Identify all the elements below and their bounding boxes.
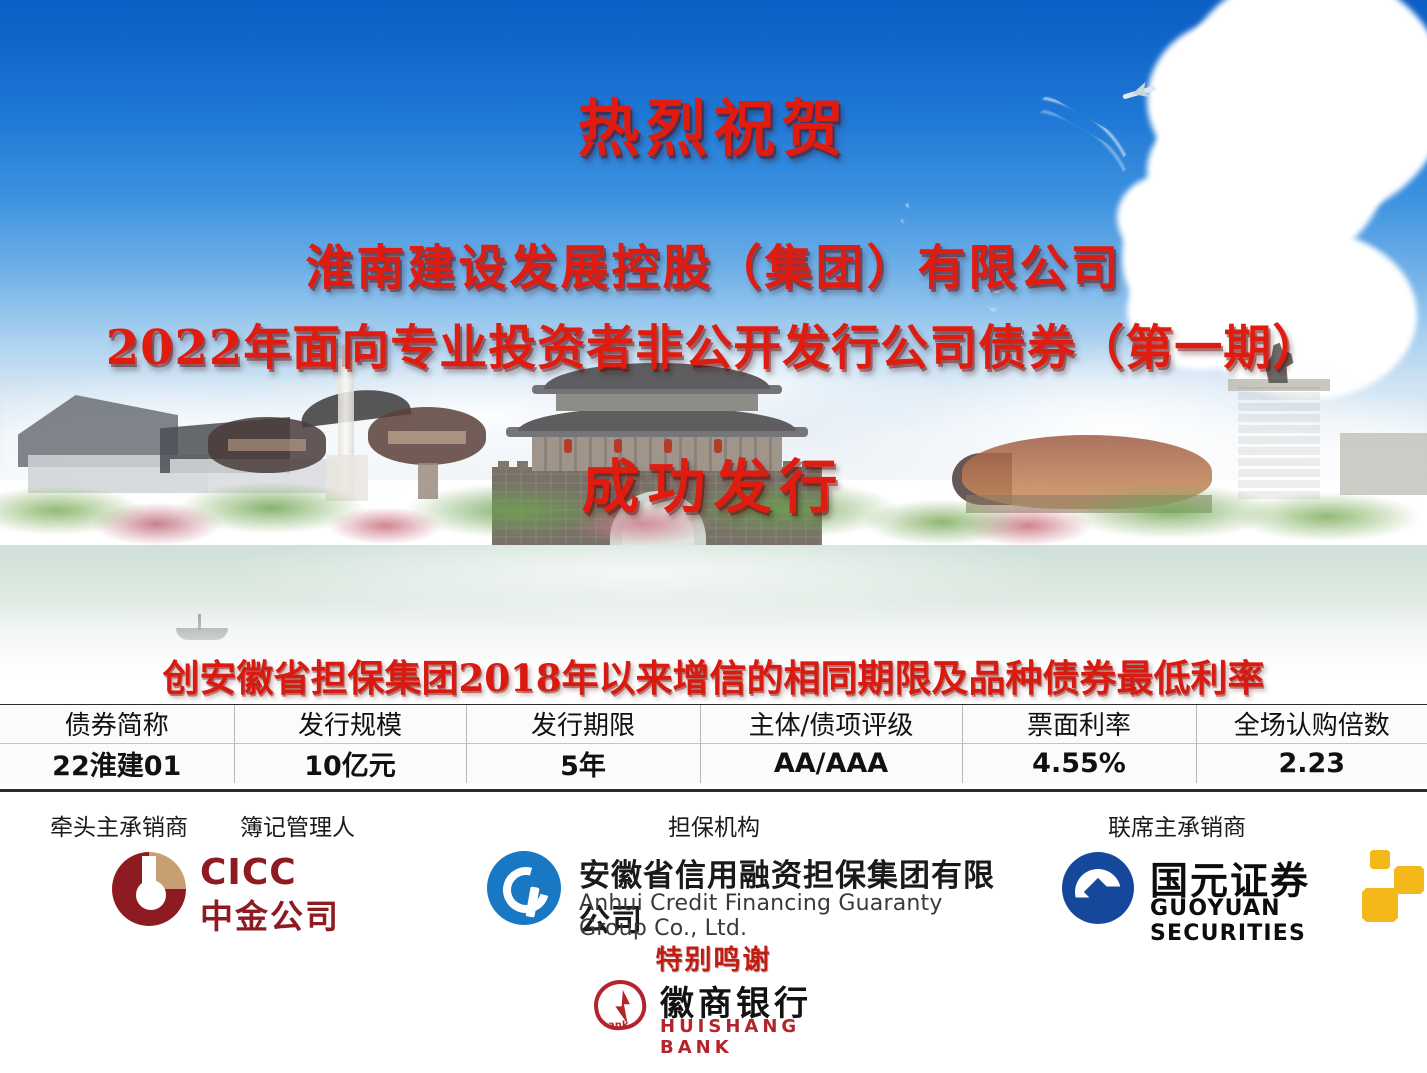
guoyuan-gold-square-large <box>1362 888 1398 922</box>
huishang-logo-en: HUISHANG BANK <box>660 1016 842 1058</box>
special-thanks-label: 特别鸣谢 <box>0 938 1427 977</box>
guoyuan-securities-logo: 国元证券 GUOYUAN SECURITIES <box>1062 848 1427 930</box>
value-tenor: 5年 <box>466 743 700 783</box>
col-header-tenor: 发行期限 <box>466 705 700 743</box>
bond-description-line: 2022年面向专业投资者非公开发行公司债券（第一期） <box>0 308 1427 378</box>
value-issue-size: 10亿元 <box>234 743 466 783</box>
label-guarantor: 担保机构 <box>668 808 760 842</box>
col-header-issue-size: 发行规模 <box>234 705 466 743</box>
col-header-coupon: 票面利率 <box>962 705 1196 743</box>
guoyuan-gold-square-medium <box>1394 866 1424 894</box>
cicc-logo-en: CICC <box>200 852 297 893</box>
successful-issuance-line: 成功发行 <box>0 440 1427 524</box>
cicc-mark-icon <box>112 852 186 926</box>
cicc-logo-cn: 中金公司 <box>200 890 340 938</box>
issuer-name-line: 淮南建设发展控股（集团）有限公司 <box>0 228 1427 298</box>
huishang-bank-logo: ank 徽商银行 HUISHANG BANK <box>592 978 842 1040</box>
congratulation-heading: 热烈祝贺 <box>0 78 1427 168</box>
huishang-mark-text: ank <box>608 1020 629 1031</box>
bond-issuance-celebration-poster: 热烈祝贺 淮南建设发展控股（集团）有限公司 2022年面向专业投资者非公开发行公… <box>0 0 1427 1073</box>
label-lead-underwriter: 牵头主承销商 <box>50 808 188 842</box>
label-joint-underwriter: 联席主承销商 <box>1108 808 1246 842</box>
guoyuan-mark-icon <box>1062 852 1134 924</box>
anhui-guaranty-logo: 安徽省信用融资担保集团有限公司 Anhui Credit Financing G… <box>487 848 997 930</box>
table-bottom-rule <box>0 789 1427 792</box>
value-subscription-multiple: 2.23 <box>1196 743 1427 783</box>
label-bookrunner: 簿记管理人 <box>240 808 355 842</box>
col-header-bond-name: 债券简称 <box>0 705 234 743</box>
huishang-mark-icon: ank <box>592 980 650 1036</box>
col-header-rating: 主体/债项评级 <box>700 705 962 743</box>
value-rating: AA/AAA <box>700 743 962 783</box>
table-header-row: 债券简称 发行规模 发行期限 主体/债项评级 票面利率 全场认购倍数 <box>0 705 1427 743</box>
anhui-mark-icon <box>487 851 561 925</box>
value-coupon: 4.55% <box>962 743 1196 783</box>
achievement-tagline: 创安徽省担保集团2018年以来增信的相同期限及品种债券最低利率 <box>0 648 1427 702</box>
table-value-row: 22淮建01 10亿元 5年 AA/AAA 4.55% 2.23 <box>0 743 1427 783</box>
bond-terms-table: 债券简称 发行规模 发行期限 主体/债项评级 票面利率 全场认购倍数 22淮建0… <box>0 705 1427 783</box>
cicc-logo: CICC 中金公司 <box>112 848 362 930</box>
anhui-logo-en: Anhui Credit Financing Guaranty Group Co… <box>579 891 997 941</box>
guoyuan-gold-square-small <box>1370 850 1390 869</box>
col-header-subscription-multiple: 全场认购倍数 <box>1196 705 1427 743</box>
value-bond-name: 22淮建01 <box>0 743 234 783</box>
